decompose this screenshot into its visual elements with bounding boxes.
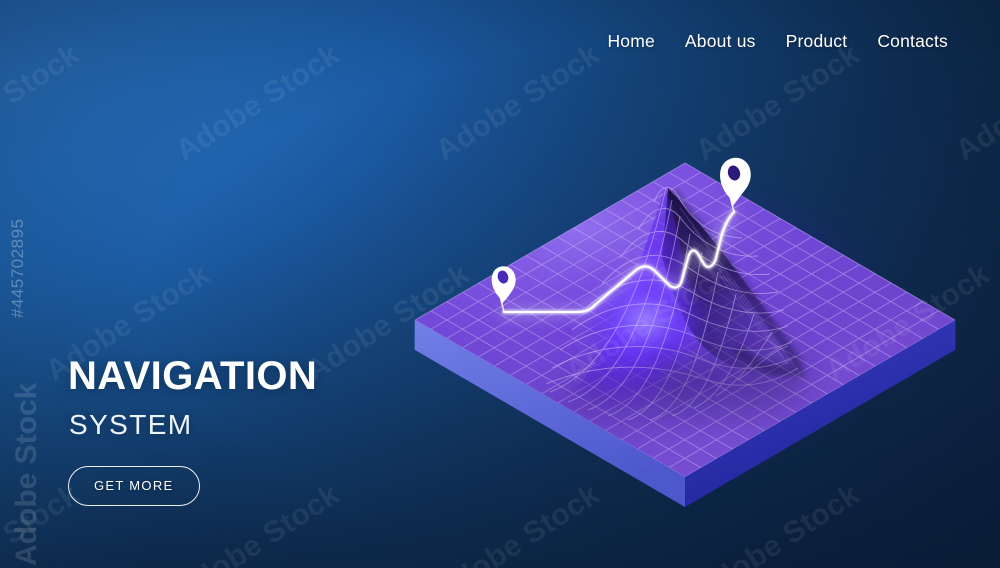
watermark-asset-id: #445702895 <box>8 218 28 318</box>
slab-top-surface <box>415 163 955 477</box>
nav-item-product[interactable]: Product <box>786 31 848 52</box>
nav-item-contacts[interactable]: Contacts <box>877 31 948 52</box>
isometric-navigation-illustration <box>400 130 1000 530</box>
main-navigation[interactable]: Home About us Product Contacts <box>607 31 948 52</box>
page-title: NAVIGATION <box>68 356 317 398</box>
nav-item-about-us[interactable]: About us <box>685 31 756 52</box>
landing-page: Home About us Product Contacts NAVIGATIO… <box>0 0 1000 568</box>
hero-copy: NAVIGATION SYSTEM GET MORE <box>68 356 317 506</box>
get-more-button[interactable]: GET MORE <box>68 466 200 506</box>
page-subtitle: SYSTEM <box>69 411 317 439</box>
nav-item-home[interactable]: Home <box>607 31 654 52</box>
watermark-corner: Adobe Stock <box>10 383 44 566</box>
